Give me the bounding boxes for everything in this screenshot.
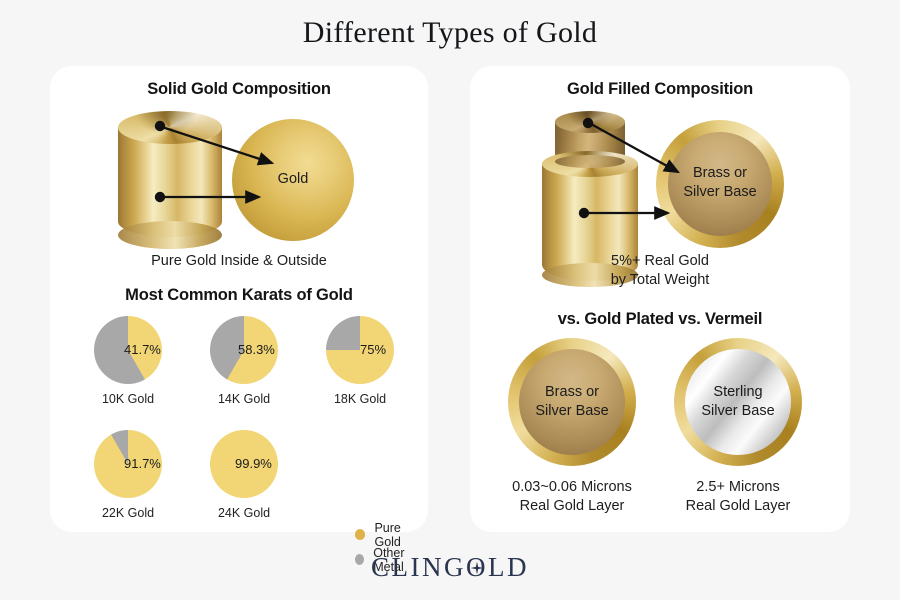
gold-filled-caption: 5%+ Real Gold by Total Weight <box>526 252 794 290</box>
pie-chart-label: 22K Gold <box>86 506 170 520</box>
vermeil-caption: 2.5+ Microns Real Gold Layer <box>660 478 816 516</box>
core-label-line-2: Silver Base <box>494 402 650 421</box>
pie-percent-label: 41.7% <box>124 342 161 357</box>
pie-chart-label: 24K Gold <box>202 506 286 520</box>
vermeil-core-label: Sterling Silver Base <box>660 383 816 421</box>
legend-label-pure-gold: Pure Gold <box>374 521 428 549</box>
sparkle-diamond-icon <box>470 561 485 576</box>
pie-percent-label: 91.7% <box>124 456 161 471</box>
gold-filled-card: Gold Filled Composition Brass or Silver … <box>470 66 850 532</box>
pie-chart-label: 10K Gold <box>86 392 170 406</box>
pie-percent-label: 99.9% <box>235 456 272 471</box>
caption-line-2: Real Gold Layer <box>660 497 816 516</box>
solid-gold-card: Solid Gold Composition Gold Pure Gold In… <box>50 66 428 532</box>
brand-name-part-1: CLING <box>371 552 466 582</box>
caption-line-2: Real Gold Layer <box>494 497 650 516</box>
brand-name-letter-o: O <box>466 552 488 583</box>
gold-plated-caption: 0.03~0.06 Microns Real Gold Layer <box>494 478 650 516</box>
page-title: Different Types of Gold <box>0 16 900 50</box>
pie-percent-label: 75% <box>360 342 386 357</box>
gold-filled-caption-line-1: 5%+ Real Gold <box>526 252 794 271</box>
legend-item-pure-gold: Pure Gold <box>355 524 428 545</box>
pie-percent-label: 58.3% <box>238 342 275 357</box>
brand-name-part-2: LD <box>488 552 529 582</box>
core-label-line-1: Sterling <box>660 383 816 402</box>
brand-logo: CLINGO LD <box>0 552 900 583</box>
karats-title: Most Common Karats of Gold <box>50 286 428 305</box>
core-label-line-1: Brass or <box>494 383 650 402</box>
core-label-line-2: Silver Base <box>660 402 816 421</box>
pie-chart-label: 14K Gold <box>202 392 286 406</box>
gold-plated-core-label: Brass or Silver Base <box>494 383 650 421</box>
pie-chart-label: 18K Gold <box>318 392 402 406</box>
caption-line-1: 2.5+ Microns <box>660 478 816 497</box>
legend-dot-pure-gold <box>355 529 365 540</box>
comparison-title: vs. Gold Plated vs. Vermeil <box>470 310 850 329</box>
solid-gold-caption: Pure Gold Inside & Outside <box>50 252 428 271</box>
caption-line-1: 0.03~0.06 Microns <box>494 478 650 497</box>
gold-filled-caption-line-2: by Total Weight <box>526 271 794 290</box>
